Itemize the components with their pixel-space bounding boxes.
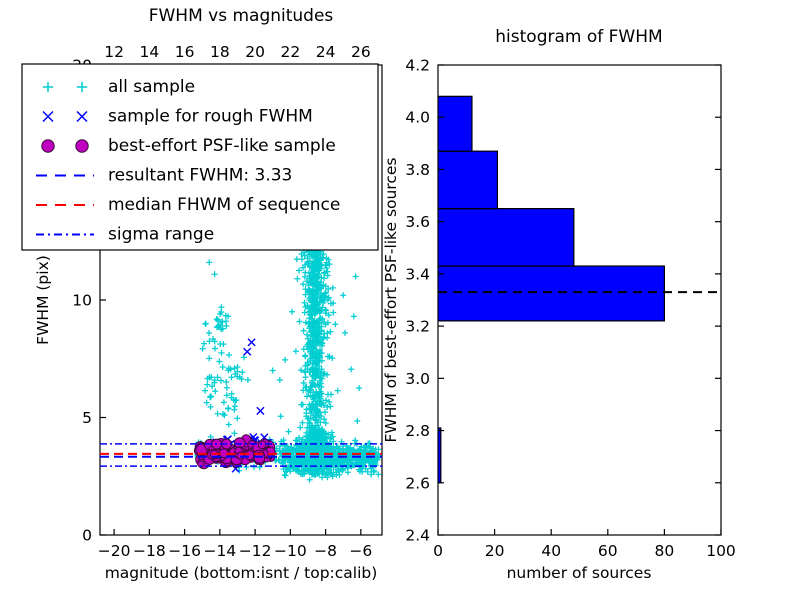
left-bottom-tick-label: −20: [98, 542, 131, 560]
right-x-tick-label: 20: [485, 542, 505, 560]
right-panel: histogram of FWHM 020406080100 2.42.62.8…: [382, 27, 736, 582]
left-ylabel: FWHM (pix): [34, 255, 52, 345]
histogram-bar: [438, 209, 574, 266]
legend-frame: [22, 64, 378, 250]
legend-entry-label: sample for rough FWHM: [108, 107, 313, 127]
circle-marker-icon: [76, 140, 88, 152]
legend-entry-label: resultant FWHM: 3.33: [108, 166, 292, 186]
right-y-tick-label: 2.8: [405, 422, 430, 440]
left-xlabel: magnitude (bottom:isnt / top:calib): [105, 564, 378, 582]
left-bottom-tick-label: −6: [349, 542, 372, 560]
histogram-bar: [438, 266, 664, 321]
right-y-tick-label: 3.8: [405, 161, 430, 179]
left-top-tick-label: 24: [316, 43, 336, 61]
left-bottom-ticks: −20−18−16−14−12−10−8−6: [98, 529, 373, 560]
left-bottom-tick-label: −8: [314, 542, 337, 560]
left-y-tick-label: 0: [82, 527, 92, 545]
right-y-tick-label: 3.4: [405, 265, 430, 283]
right-y-tick-label: 3.2: [405, 318, 430, 336]
histogram-bars: [438, 96, 721, 482]
scatter-psf-sample: [194, 435, 275, 469]
circle-marker-icon: [42, 140, 54, 152]
right-y-tick-label: 3.0: [405, 370, 430, 388]
left-top-tick-label: 12: [104, 43, 124, 61]
legend-entry-label: best-effort PSF-like sample: [108, 136, 336, 156]
histogram-bar: [438, 428, 441, 483]
legend-entry-label: sigma range: [108, 225, 214, 245]
left-top-tick-label: 22: [280, 43, 300, 61]
histogram-bar: [438, 96, 472, 151]
left-y-tick-label: 10: [72, 292, 92, 310]
legend-box[interactable]: all samplesample for rough FWHMbest-effo…: [22, 64, 378, 250]
right-xlabel: number of sources: [507, 564, 652, 582]
right-x-ticks: 020406080100: [433, 529, 736, 560]
right-x-tick-label: 60: [598, 542, 618, 560]
left-top-tick-label: 18: [210, 43, 230, 61]
legend-entry-label: median FHWM of sequence: [108, 195, 340, 215]
left-panel-title: FWHM vs magnitudes: [149, 6, 334, 26]
left-bottom-tick-label: −18: [133, 542, 166, 560]
left-y-tick-label: 5: [82, 409, 92, 427]
left-bottom-tick-label: −14: [203, 542, 236, 560]
right-x-tick-label: 100: [706, 542, 736, 560]
right-y-tick-label: 2.6: [405, 474, 430, 492]
left-top-tick-label: 26: [351, 43, 371, 61]
right-panel-title: histogram of FWHM: [495, 27, 662, 47]
right-y-tick-label: 3.6: [405, 213, 430, 231]
figure-canvas: FWHM vs magnitudes −20−18−16−14−12−1: [0, 0, 800, 600]
left-bottom-tick-label: −16: [168, 542, 201, 560]
left-top-tick-label: 16: [175, 43, 195, 61]
plot-svg: FWHM vs magnitudes −20−18−16−14−12−1: [0, 0, 800, 600]
histogram-bar: [438, 151, 497, 208]
right-y-tick-label: 2.4: [405, 527, 430, 545]
right-x-tick-label: 40: [541, 542, 561, 560]
legend-entry-label: all sample: [108, 77, 195, 97]
left-top-tick-label: 14: [139, 43, 159, 61]
right-x-tick-label: 0: [433, 542, 443, 560]
right-x-tick-label: 80: [655, 542, 675, 560]
left-bottom-tick-label: −10: [274, 542, 307, 560]
right-ylabel: FWHM of best-effort PSF-like sources: [382, 157, 400, 442]
right-y-tick-label: 4.0: [405, 109, 430, 127]
right-y-tick-label: 4.2: [405, 57, 430, 75]
left-top-tick-label: 20: [245, 43, 265, 61]
left-bottom-tick-label: −12: [239, 542, 272, 560]
